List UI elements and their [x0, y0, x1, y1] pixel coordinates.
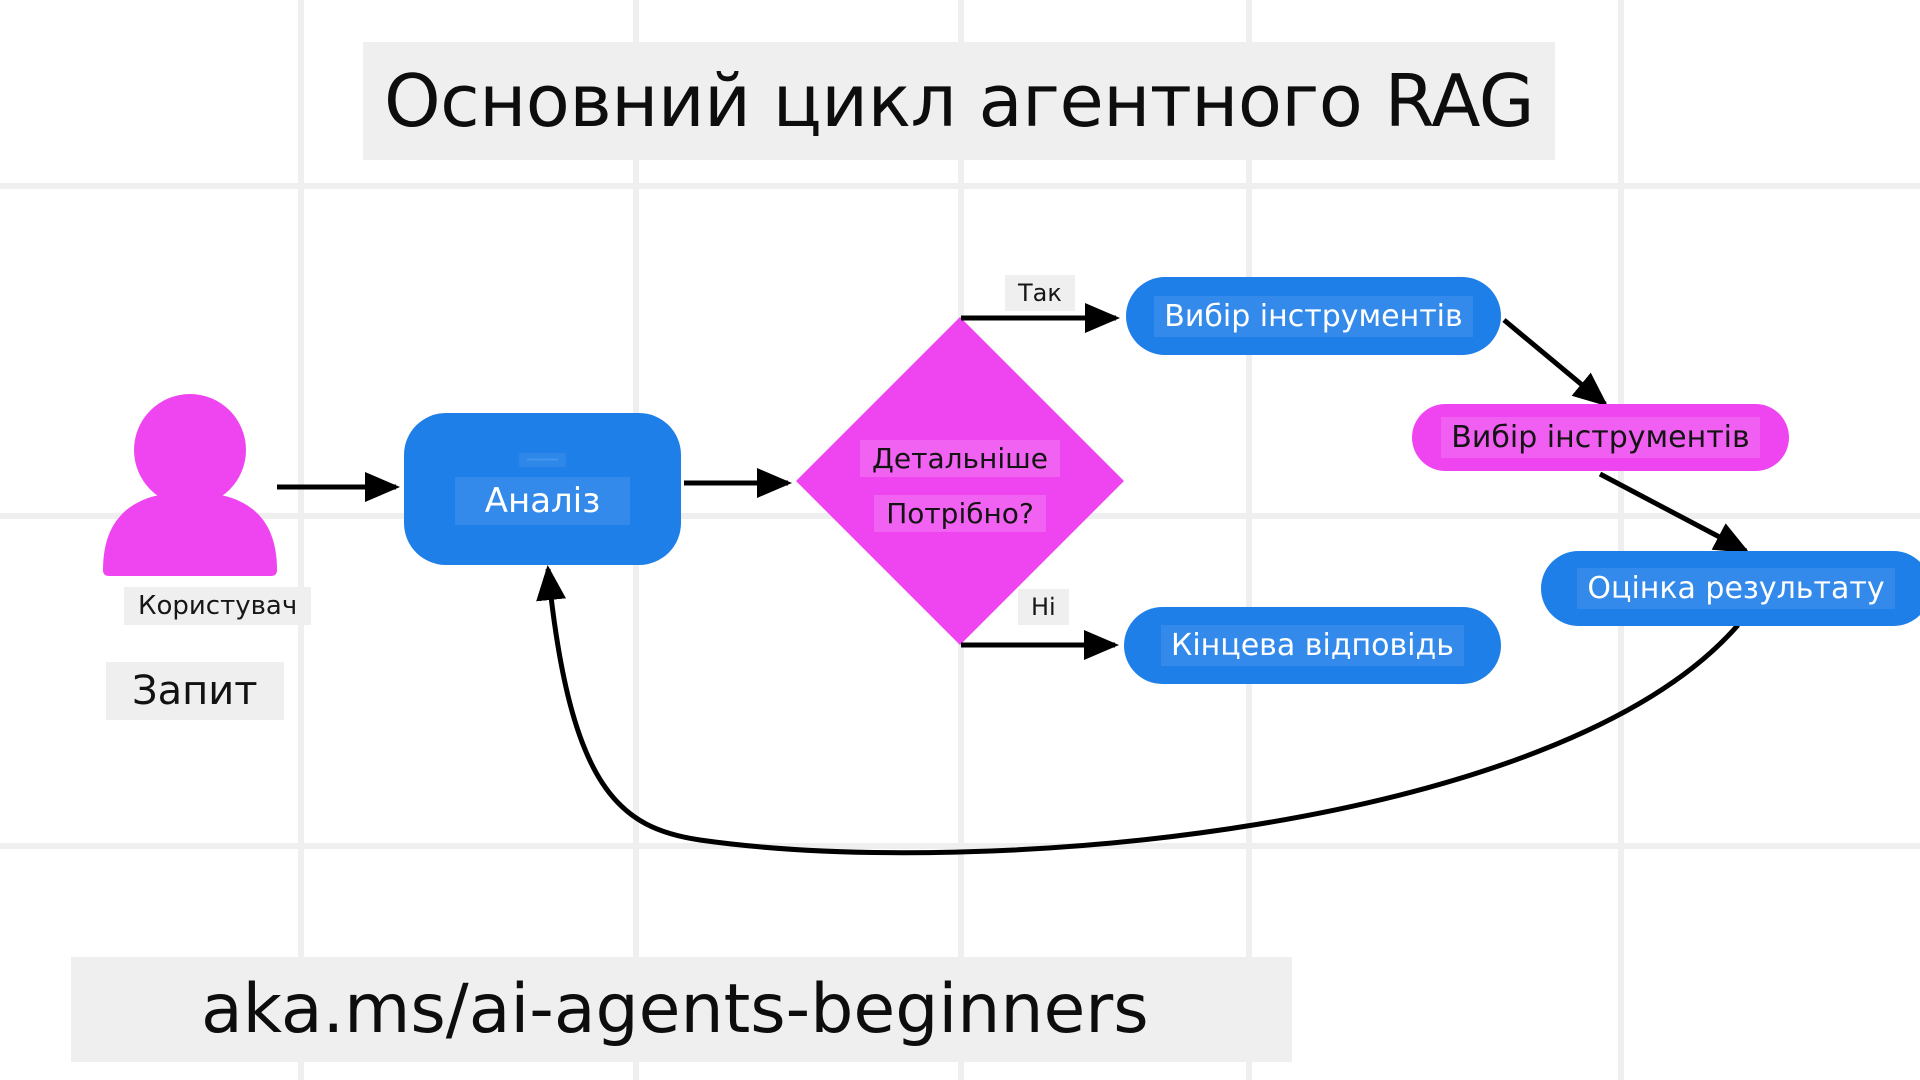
actor-label-query: Запит [106, 662, 284, 720]
edge-label-yes: Так [1005, 275, 1075, 311]
node-analysis-micro-caption: ············· [519, 453, 567, 467]
node-result-evaluation-label: Оцінка результату [1577, 568, 1894, 609]
node-tool-selection-magenta-label: Вибір інструментів [1441, 417, 1759, 458]
edge-layer [0, 0, 1920, 1080]
node-result-evaluation[interactable]: Оцінка результату [1541, 551, 1920, 626]
node-decision-label-line2: Потрібно? [874, 495, 1046, 532]
node-final-answer-label: Кінцева відповідь [1161, 625, 1464, 666]
edge-label-no: Ні [1018, 589, 1069, 625]
node-tool-selection-magenta[interactable]: Вибір інструментів [1412, 404, 1789, 471]
page-title: Основний цикл агентного RAG [363, 42, 1555, 160]
footer-url[interactable]: aka.ms/ai-agents-beginners [71, 957, 1292, 1062]
node-analysis[interactable]: ············· Аналіз [404, 413, 681, 565]
node-decision[interactable]: Детальніше Потрібно? [845, 432, 1075, 540]
node-tool-selection-blue-label: Вибір інструментів [1154, 296, 1472, 337]
actor-label-user: Користувач [124, 587, 311, 625]
node-decision-label-line1: Детальніше [860, 440, 1060, 477]
diagram-slide: Основний цикл агентного RAG Користувач З… [0, 0, 1920, 1080]
node-analysis-label: Аналіз [455, 477, 631, 525]
node-final-answer[interactable]: Кінцева відповідь [1124, 607, 1501, 684]
edge-tool-select-magenta-to-evaluate [1600, 474, 1746, 551]
node-tool-selection-blue[interactable]: Вибір інструментів [1126, 277, 1501, 355]
edge-tool-select-to-tool-select-magenta [1504, 320, 1605, 404]
